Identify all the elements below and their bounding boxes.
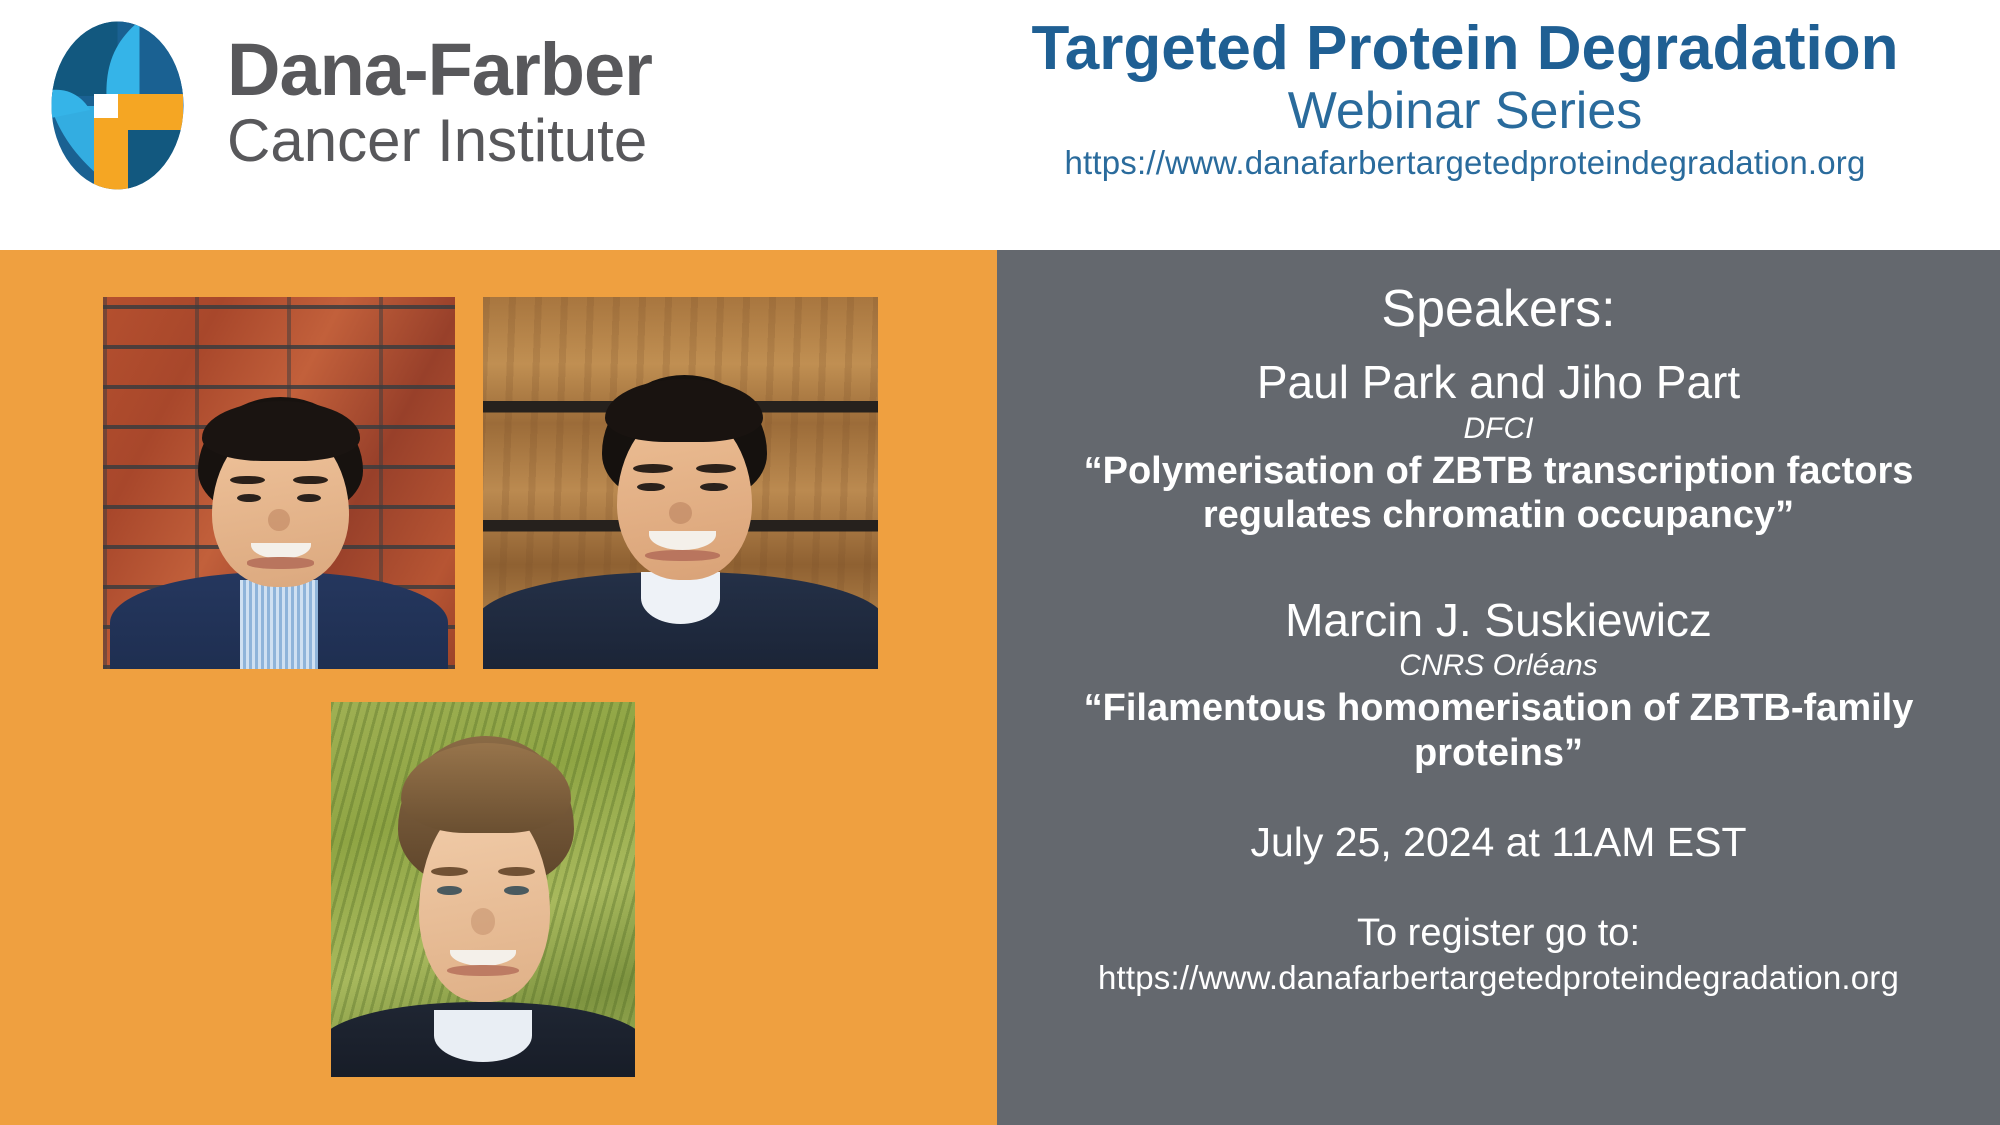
register-url[interactable]: https://www.danafarbertargetedproteindeg… — [1011, 957, 1986, 998]
shirt-collar — [434, 1010, 531, 1063]
speakers-heading: Speakers: — [1011, 278, 1986, 340]
speaker-1-talk-line-1: “Polymerisation of ZBTB transcription fa… — [1011, 449, 1986, 494]
speaker-2-affiliation: CNRS Orléans — [1011, 648, 1986, 684]
speaker-2-talk-line-2: proteins” — [1011, 731, 1986, 776]
register-lead: To register go to: — [1011, 911, 1986, 957]
dana-farber-logo: Dana-Farber Cancer Institute — [30, 18, 652, 193]
webinar-flyer: Dana-Farber Cancer Institute Targeted Pr… — [0, 0, 2000, 1125]
dana-farber-logo-mark — [30, 18, 205, 193]
speaker-2-name: Marcin J. Suskiewicz — [1011, 592, 1986, 648]
header-band: Dana-Farber Cancer Institute Targeted Pr… — [0, 0, 2000, 250]
eyebrow-right — [498, 867, 534, 876]
shirt-collar — [641, 572, 720, 624]
nose — [268, 509, 289, 531]
speaker-entry-1: Paul Park and Jiho Part DFCI “Polymerisa… — [1011, 354, 1986, 538]
eye-left — [637, 483, 665, 491]
nose — [669, 502, 693, 524]
speaker-divider-gap — [1011, 538, 1986, 578]
speaker-1-talk-line-2: regulates chromatin occupancy” — [1011, 493, 1986, 538]
speaker-2-talk-line-1: “Filamentous homomerisation of ZBTB-fami… — [1011, 686, 1986, 731]
logo-line-2: Cancer Institute — [227, 106, 652, 177]
speaker-photo-marcin-suskiewicz — [331, 702, 635, 1077]
nose — [471, 908, 495, 934]
speaker-photo-jiho-part — [483, 297, 878, 669]
shirt-collar — [240, 580, 317, 669]
speaker-1-affiliation: DFCI — [1011, 411, 1986, 447]
logo-wordmark: Dana-Farber Cancer Institute — [227, 34, 652, 177]
speaker-1-name: Paul Park and Jiho Part — [1011, 354, 1986, 410]
lips — [247, 557, 314, 568]
eyebrow-left — [431, 867, 467, 876]
title-block: Targeted Protein Degradation Webinar Ser… — [960, 16, 1970, 183]
speaker-entry-2: Marcin J. Suskiewicz CNRS Orléans “Filam… — [1011, 592, 1986, 776]
event-datetime: July 25, 2024 at 11AM EST — [1011, 818, 1986, 867]
lips — [447, 965, 520, 976]
header-url[interactable]: https://www.danafarbertargetedproteindeg… — [960, 142, 1970, 183]
details-text: Speakers: Paul Park and Jiho Part DFCI “… — [997, 250, 2000, 1125]
page-subtitle: Webinar Series — [960, 82, 1970, 140]
logo-line-1: Dana-Farber — [227, 34, 652, 107]
logo-mark-svg — [30, 18, 205, 193]
page-title: Targeted Protein Degradation — [960, 16, 1970, 82]
speaker-photo-paul-park — [103, 297, 455, 669]
lips — [645, 550, 720, 561]
